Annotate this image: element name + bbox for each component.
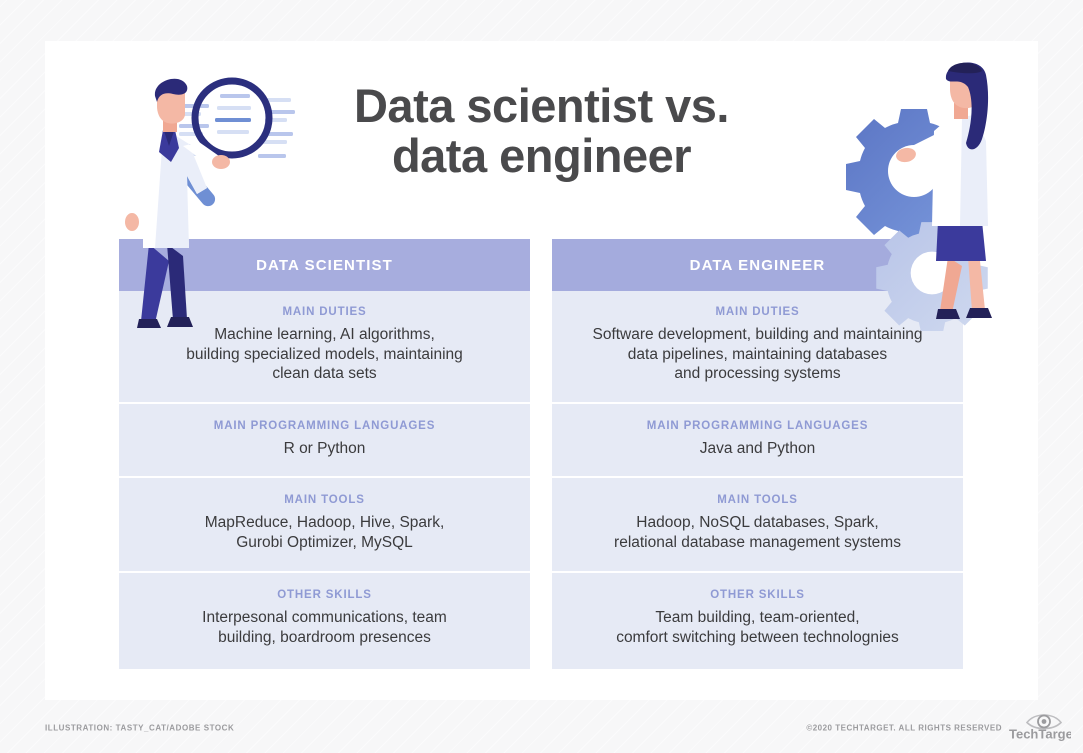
row-value: Machine learning, AI algorithms, buildin… xyxy=(129,325,520,384)
page-title-line-1: Data scientist vs. xyxy=(354,79,729,132)
row-value: Team building, team-oriented, comfort sw… xyxy=(562,608,953,647)
column-rows-data-engineer: MAIN DUTIES Software development, buildi… xyxy=(552,291,963,669)
table-row: OTHER SKILLS Team building, team-oriente… xyxy=(552,571,963,669)
table-row: MAIN TOOLS MapReduce, Hadoop, Hive, Spar… xyxy=(119,476,530,571)
row-value: MapReduce, Hadoop, Hive, Spark, Gurobi O… xyxy=(129,513,520,552)
row-label: MAIN PROGRAMMING LANGUAGES xyxy=(562,420,953,432)
row-value: R or Python xyxy=(129,439,520,459)
row-label: OTHER SKILLS xyxy=(129,589,520,601)
row-value: Java and Python xyxy=(562,439,953,459)
table-row: MAIN PROGRAMMING LANGUAGES R or Python xyxy=(119,402,530,477)
svg-text:TechTarget: TechTarget xyxy=(1009,727,1071,742)
table-row: OTHER SKILLS Interpesonal communications… xyxy=(119,571,530,669)
table-row: MAIN TOOLS Hadoop, NoSQL databases, Spar… xyxy=(552,476,963,571)
copyright-text: ©2020 TECHTARGET. ALL RIGHTS RESERVED xyxy=(806,724,1002,733)
page-title: Data scientist vs. data engineer xyxy=(45,81,1038,181)
row-value: Interpesonal communications, team buildi… xyxy=(129,608,520,647)
row-value: Software development, building and maint… xyxy=(562,325,953,384)
row-label: MAIN TOOLS xyxy=(129,494,520,506)
column-rows-data-scientist: MAIN DUTIES Machine learning, AI algorit… xyxy=(119,291,530,669)
footer-brand-block: ©2020 TECHTARGET. ALL RIGHTS RESERVED Te… xyxy=(806,710,1071,747)
illustration-credit: ILLUSTRATION: TASTY_CAT/ADOBE STOCK xyxy=(45,724,234,733)
page-title-line-2: data engineer xyxy=(45,131,1038,181)
row-label: MAIN TOOLS xyxy=(562,494,953,506)
table-row: MAIN PROGRAMMING LANGUAGES Java and Pyth… xyxy=(552,402,963,477)
row-label: MAIN PROGRAMMING LANGUAGES xyxy=(129,420,520,432)
techtarget-eye-icon: TechTarget xyxy=(1009,710,1071,742)
row-label: OTHER SKILLS xyxy=(562,589,953,601)
techtarget-logo: TechTarget xyxy=(1009,710,1071,747)
row-value: Hadoop, NoSQL databases, Spark, relation… xyxy=(562,513,953,552)
infographic-card: Data scientist vs. data engineer xyxy=(45,41,1038,700)
